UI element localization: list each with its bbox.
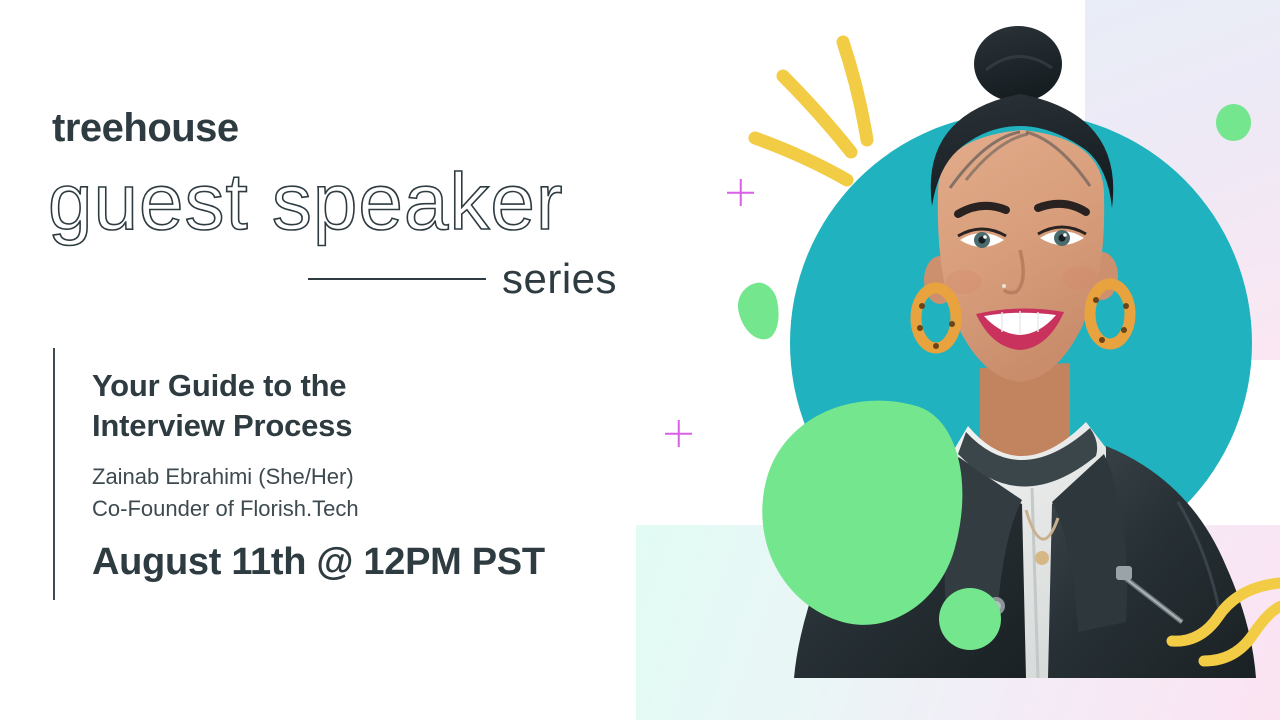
- headline-outline: guest speaker: [48, 160, 564, 244]
- yellow-waves-icon: [1160, 565, 1280, 670]
- green-blob-small-icon: [734, 279, 785, 343]
- details-vertical-rule: [53, 348, 55, 600]
- series-row: series: [308, 255, 624, 303]
- yellow-rays-icon: [735, 28, 925, 208]
- talk-title-line-2: Interview Process: [92, 406, 612, 446]
- speaker-info: Zainab Ebrahimi (She/Her) Co-Founder of …: [92, 461, 612, 523]
- green-circle-bottom-icon: [939, 588, 1001, 650]
- brand-wordmark: treehouse: [52, 108, 239, 148]
- talk-title: Your Guide to the Interview Process: [92, 366, 612, 445]
- talk-title-line-1: Your Guide to the: [92, 366, 612, 406]
- series-divider-rule: [308, 278, 486, 280]
- talk-details: Your Guide to the Interview Process Zain…: [92, 366, 612, 584]
- speaker-role: Co-Founder of Florish.Tech: [92, 493, 612, 524]
- series-label: series: [502, 258, 617, 300]
- event-datetime: August 11th @ 12PM PST: [92, 542, 612, 584]
- speaker-name: Zainab Ebrahimi (She/Her): [92, 461, 612, 492]
- magenta-plus-icon-2: [665, 420, 692, 447]
- guest-speaker-poster: treehouse guest speaker series Your Guid…: [0, 0, 1280, 720]
- magenta-plus-icon-1: [727, 179, 754, 206]
